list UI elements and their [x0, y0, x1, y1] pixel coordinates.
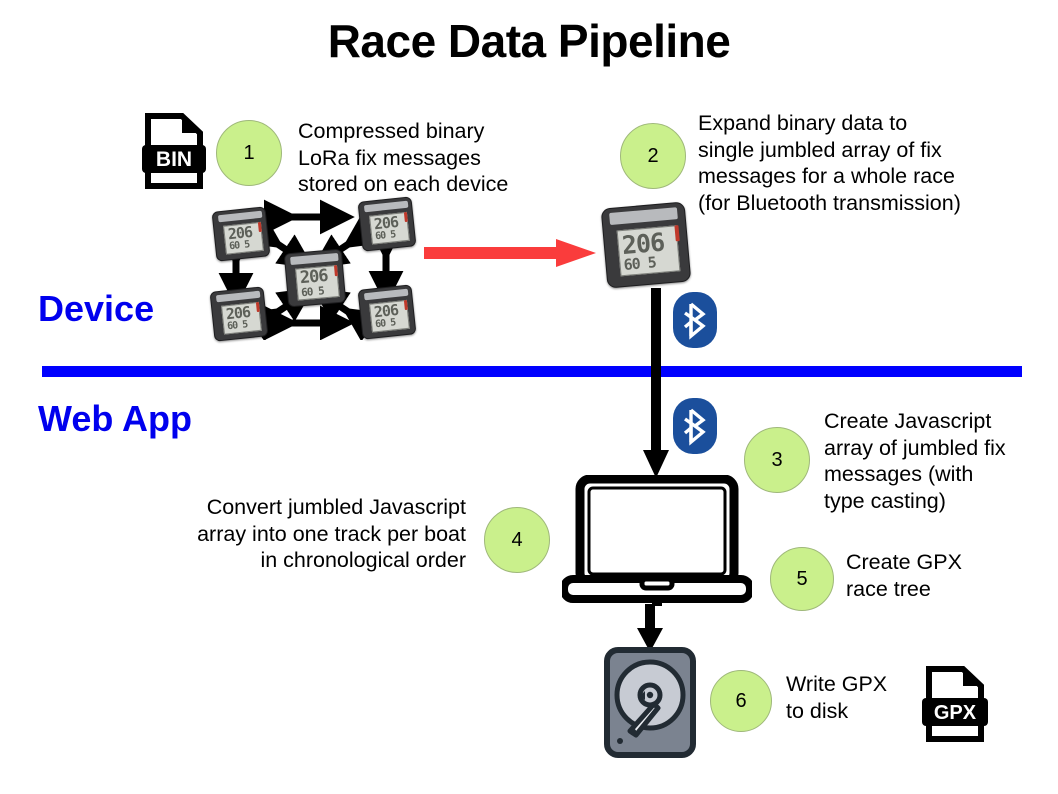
step-5-text: Create GPX race tree: [846, 549, 1026, 602]
step-3-number: 3: [771, 449, 782, 472]
step-2-number: 2: [647, 145, 658, 168]
svg-text:GPX: GPX: [934, 702, 977, 724]
section-label-web-app: Web App: [38, 398, 192, 440]
gps-watch-device: 206 60 5: [212, 206, 271, 261]
step-4-text: Convert jumbled Javascript array into on…: [166, 494, 466, 574]
step-3-badge[interactable]: 3: [744, 427, 810, 493]
step-1-badge[interactable]: 1: [216, 120, 282, 186]
section-label-device: Device: [38, 288, 154, 330]
bluetooth-icon-webapp: [673, 398, 717, 454]
step-4-number: 4: [511, 529, 522, 552]
step-2-badge[interactable]: 2: [620, 123, 686, 189]
bluetooth-transfer-arrow: [643, 288, 669, 478]
bluetooth-icon-device: [673, 292, 717, 348]
gps-watch-device: 206 60 5: [210, 286, 269, 341]
red-transfer-arrow: [424, 237, 596, 269]
device-mesh-group: 206 60 5 206 60 5 206 60 5: [210, 195, 430, 340]
step-6-badge[interactable]: 6: [710, 670, 772, 732]
step-5-number: 5: [796, 568, 807, 591]
bin-file-icon: BIN: [142, 112, 206, 190]
diagram-canvas: Race Data Pipeline Device Web App BIN 1 …: [0, 0, 1058, 794]
svg-text:BIN: BIN: [156, 148, 192, 171]
step-2-text: Expand binary data to single jumbled arr…: [698, 110, 1018, 216]
page-title: Race Data Pipeline: [0, 14, 1058, 68]
gps-watch-device: 206 60 5: [358, 284, 417, 339]
step-5-badge[interactable]: 5: [770, 547, 834, 611]
hard-disk-icon: [604, 647, 696, 758]
step-4-badge[interactable]: 4: [484, 507, 550, 573]
step-6-number: 6: [735, 690, 746, 713]
watch-display-small: 60 5: [623, 255, 656, 273]
device-webapp-divider: [42, 366, 1022, 377]
gps-watch-main: 206 60 5: [601, 201, 692, 288]
laptop-to-disk-arrow: [637, 604, 663, 652]
gps-watch-device: 206 60 5: [284, 249, 346, 308]
step-1-number: 1: [243, 142, 254, 165]
laptop-icon: [562, 475, 752, 606]
gpx-file-icon: GPX: [922, 665, 988, 743]
gps-watch-device: 206 60 5: [358, 196, 417, 251]
step-1-text: Compressed binary LoRa fix messages stor…: [298, 118, 548, 198]
step-3-text: Create Javascript array of jumbled fix m…: [824, 408, 1034, 514]
